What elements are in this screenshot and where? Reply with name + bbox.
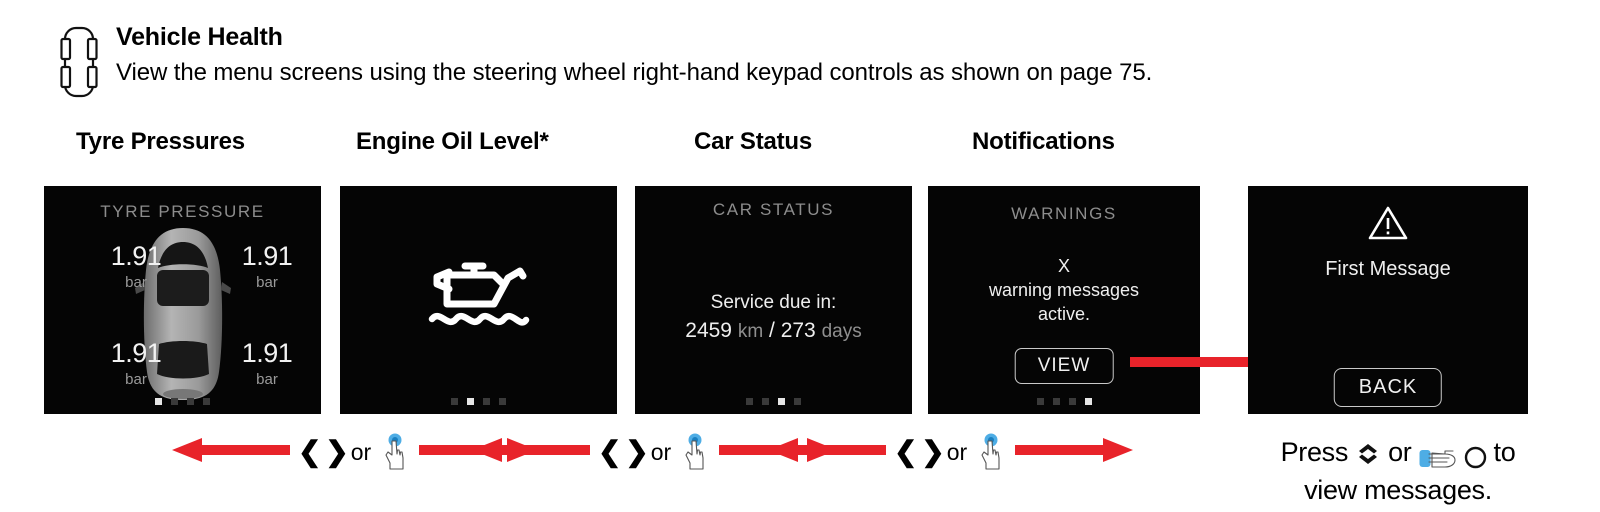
warning-count: X (928, 254, 1200, 278)
page-title: Vehicle Health (116, 22, 1152, 52)
page-dot (762, 398, 769, 405)
screen-tyre-pressure[interactable]: TYRE PRESSURE 1 (44, 186, 321, 414)
service-distance-unit: km (738, 321, 763, 342)
page-dot (187, 398, 194, 405)
column-heading-tyre-pressures: Tyre Pressures (76, 128, 245, 156)
tyre-unit-rear-left: bar (100, 371, 172, 388)
vehicle-health-page: Vehicle Health View the menu screens usi… (0, 0, 1600, 512)
page-dots (635, 398, 912, 405)
press-instruction-caption: Press or to view messages. (1248, 433, 1548, 509)
arrow-left-icon (768, 437, 886, 468)
service-separator: / (769, 319, 775, 342)
hand-swipe-icon (973, 433, 1007, 471)
page-dot (1069, 398, 1076, 405)
page-dot (483, 398, 490, 405)
service-days-unit: days (822, 321, 862, 342)
page-dot (499, 398, 506, 405)
screen-title: CAR STATUS (635, 200, 912, 220)
chevron-left-right-icon: ❮ ❯ (894, 438, 943, 466)
service-distance-value: 2459 (685, 319, 732, 342)
page-dots (44, 398, 321, 405)
column-heading-car-status: Car Status (694, 128, 812, 156)
page-dot (155, 398, 162, 405)
header: Vehicle Health View the menu screens usi… (56, 22, 1152, 98)
page-dot (778, 398, 785, 405)
caption-press-label: Press (1281, 433, 1349, 471)
message-title: First Message (1248, 258, 1528, 281)
oil-can-icon (424, 256, 534, 336)
tyre-unit-rear-right: bar (231, 371, 303, 388)
page-dot (794, 398, 801, 405)
arrow-left-icon (472, 437, 590, 468)
service-due-values: 2459 km / 273 days (635, 319, 912, 343)
page-dot (467, 398, 474, 405)
tyre-value-rear-right: 1.91 (231, 338, 303, 369)
nav-or-label: or (651, 439, 671, 466)
caption-to-label: to (1494, 433, 1516, 471)
nav-group-3: ❮ ❯ or (768, 432, 1133, 472)
arrow-left-icon (172, 437, 290, 468)
tyre-unit-front-right: bar (231, 274, 303, 291)
screen-engine-oil-level[interactable] (340, 186, 617, 414)
arrow-right-icon (1015, 437, 1133, 468)
page-description: View the menu screens using the steering… (116, 56, 1152, 90)
page-dot (203, 398, 210, 405)
nav-or-label: or (947, 439, 967, 466)
column-heading-notifications: Notifications (972, 128, 1115, 156)
screen-car-status[interactable]: CAR STATUS Service due in: 2459 km / 273… (635, 186, 912, 414)
caption-line-2: view messages. (1248, 471, 1548, 509)
page-dot (171, 398, 178, 405)
warning-count-message: X warning messages active. (928, 254, 1200, 326)
back-button[interactable]: BACK (1334, 368, 1442, 407)
caption-or-label: or (1388, 433, 1411, 471)
vehicle-tyres-icon (56, 26, 102, 98)
hand-swipe-icon (377, 433, 411, 471)
page-dot (1037, 398, 1044, 405)
ok-circle-icon (1464, 441, 1487, 464)
tyre-value-front-left: 1.91 (100, 241, 172, 272)
service-due-label: Service due in: (635, 292, 912, 314)
page-dots (340, 398, 617, 405)
screen-title: WARNINGS (928, 204, 1200, 224)
screen-title: TYRE PRESSURE (44, 202, 321, 222)
page-dot (1085, 398, 1092, 405)
column-heading-engine-oil-level: Engine Oil Level* (356, 128, 549, 156)
hand-press-icon (1419, 441, 1457, 463)
warning-line-2: warning messages (928, 278, 1200, 302)
tyre-unit-front-left: bar (100, 274, 172, 291)
chevron-left-right-icon: ❮ ❯ (598, 438, 647, 466)
page-dot (1053, 398, 1060, 405)
screen-first-message[interactable]: First Message BACK (1248, 186, 1528, 414)
chevron-left-right-icon: ❮ ❯ (298, 438, 347, 466)
page-dot (451, 398, 458, 405)
warning-triangle-icon (1367, 204, 1409, 242)
hand-swipe-icon (677, 433, 711, 471)
tyre-value-front-right: 1.91 (231, 241, 303, 272)
page-dots (928, 398, 1200, 405)
tyre-value-rear-left: 1.91 (100, 338, 172, 369)
view-button[interactable]: VIEW (1015, 348, 1114, 384)
up-down-chevron-icon (1355, 439, 1381, 465)
page-dot (746, 398, 753, 405)
warning-line-3: active. (928, 302, 1200, 326)
nav-or-label: or (351, 439, 371, 466)
service-days-value: 273 (781, 319, 816, 342)
